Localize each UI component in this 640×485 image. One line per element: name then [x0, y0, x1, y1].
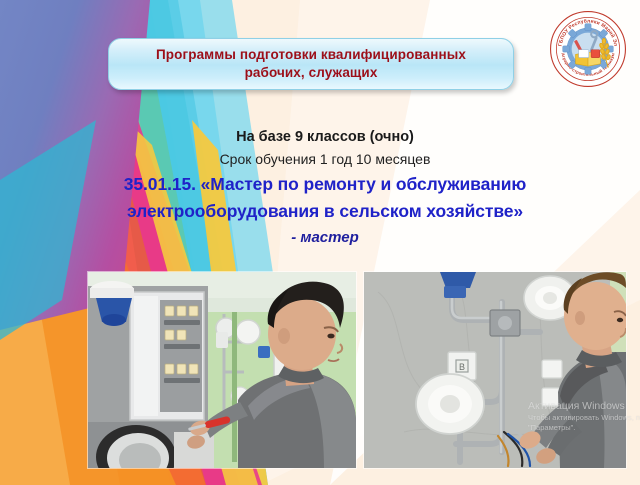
duration-line: Срок обучения 1 год 10 месяцев [60, 149, 590, 169]
college-emblem-logo: ГБПОУ Республики Марий Эл Аграрно-строит… [549, 10, 627, 88]
slide-canvas: Программы подготовки квалифицированных р… [0, 0, 640, 485]
title-line-1: Программы подготовки квалифицированных [156, 47, 466, 62]
qualification-line: - мастер [60, 229, 590, 246]
title-plaque: Программы подготовки квалифицированных р… [108, 38, 514, 90]
photo-student-electrical-panel [88, 272, 356, 468]
svg-text:B: B [459, 362, 465, 372]
program-title-line-2: электрооборудования в сельском хозяйстве… [60, 201, 590, 223]
title-line-2: рабочих, служащих [245, 65, 378, 80]
title-plaque-text: Программы подготовки квалифицированных р… [142, 46, 480, 82]
body-text-block: На базе 9 классов (очно) Срок обучения 1… [60, 128, 590, 246]
photo-student-wiring-board: B [364, 272, 626, 468]
program-title-line-1: 35.01.15. «Мастер по ремонту и обслужива… [60, 174, 590, 196]
education-base-line: На базе 9 классов (очно) [60, 128, 590, 148]
